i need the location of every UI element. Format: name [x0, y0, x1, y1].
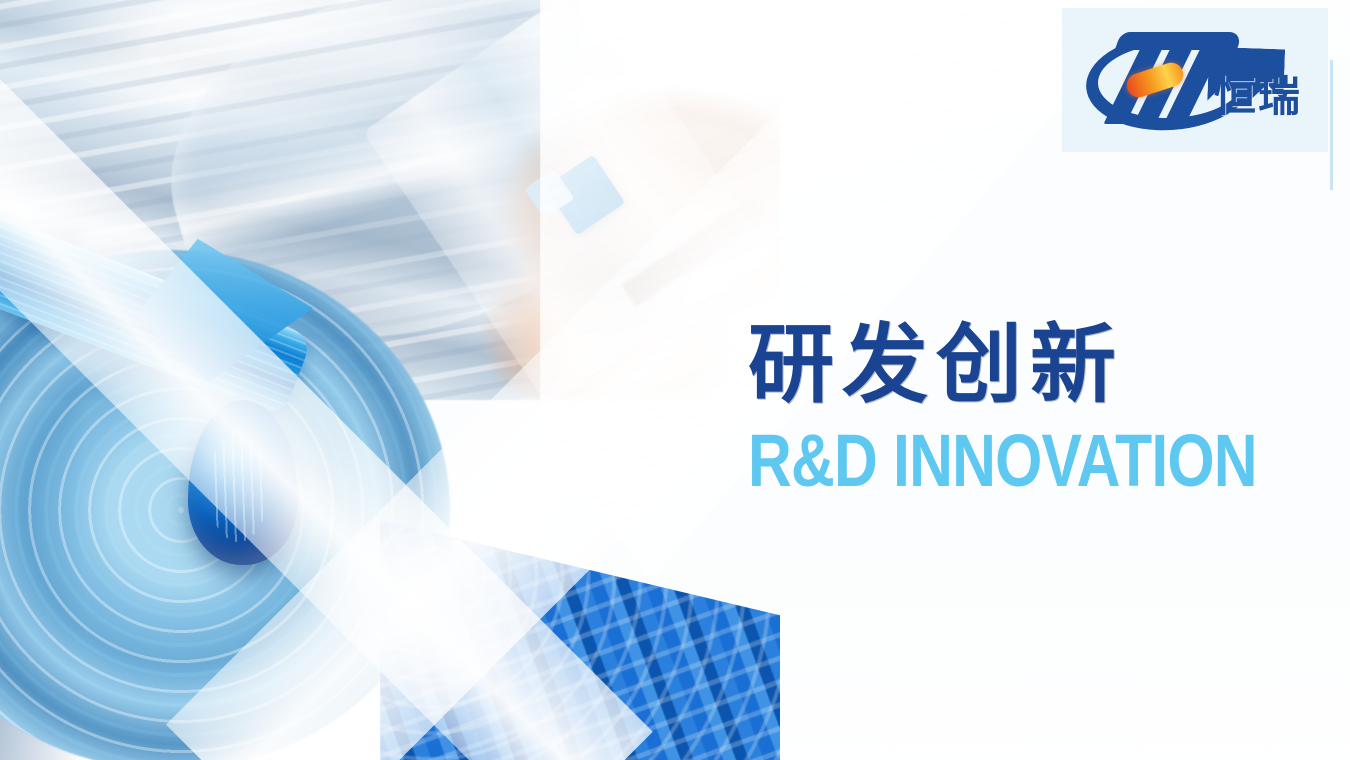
page-title-chinese: 研发创新	[748, 322, 1344, 408]
title-block: 研发创新 R&D INNOVATION	[748, 322, 1344, 498]
edge-seam	[1330, 60, 1333, 190]
company-logo: 恒瑞	[1062, 8, 1328, 152]
page-title-english: R&D INNOVATION	[748, 424, 1237, 498]
logo-company-name: 恒瑞	[1214, 76, 1302, 118]
logo-mark: 恒瑞	[1080, 24, 1310, 136]
rd-innovation-banner: 研发创新 R&D INNOVATION 恒瑞	[0, 0, 1350, 760]
